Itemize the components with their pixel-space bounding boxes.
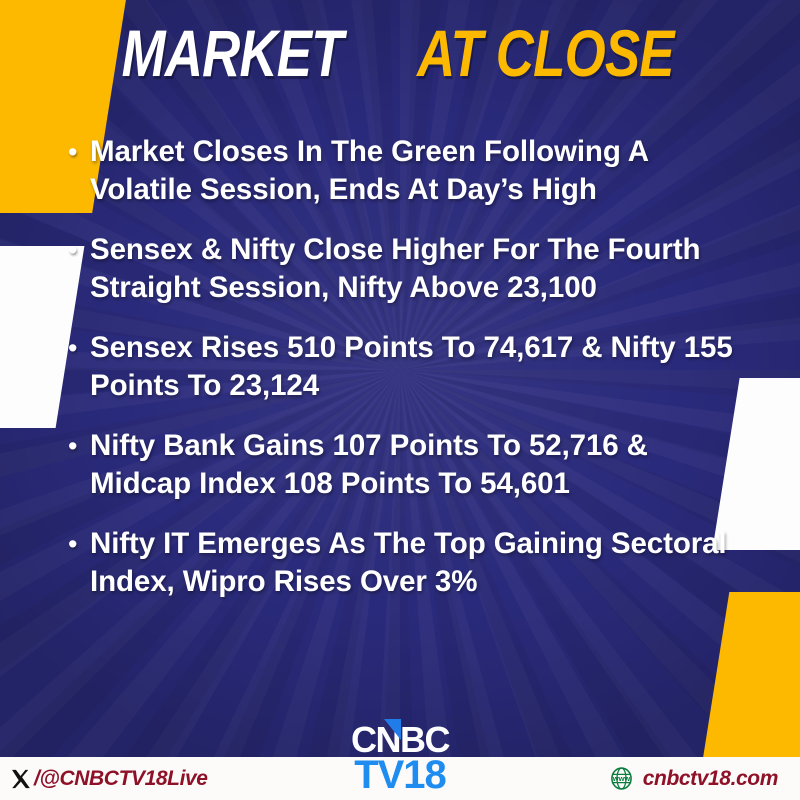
bullet-dot-icon: • bbox=[68, 133, 90, 171]
page-title: MARKETAT CLOSE bbox=[0, 20, 800, 86]
list-item: • Sensex Rises 510 Points To 74,617 & Ni… bbox=[68, 329, 738, 405]
list-item-text: Nifty Bank Gains 107 Points To 52,716 & … bbox=[90, 427, 738, 503]
cnbc-tv18-logo: CNBC TV18 bbox=[0, 722, 800, 795]
list-item: • Nifty IT Emerges As The Top Gaining Se… bbox=[68, 525, 738, 601]
page-title-part-at-close: AT CLOSE bbox=[417, 20, 674, 86]
bullet-dot-icon: • bbox=[68, 231, 90, 269]
bullet-dot-icon: • bbox=[68, 427, 90, 465]
bullet-dot-icon: • bbox=[68, 525, 90, 563]
list-item-text: Market Closes In The Green Following A V… bbox=[90, 133, 738, 209]
bullet-dot-icon: • bbox=[68, 329, 90, 367]
market-at-close-card: MARKETAT CLOSE • Market Closes In The Gr… bbox=[0, 0, 800, 800]
headline-bullet-list: • Market Closes In The Green Following A… bbox=[68, 133, 738, 623]
list-item: • Market Closes In The Green Following A… bbox=[68, 133, 738, 209]
list-item: • Sensex & Nifty Close Higher For The Fo… bbox=[68, 231, 738, 307]
list-item-text: Sensex Rises 510 Points To 74,617 & Nift… bbox=[90, 329, 738, 405]
list-item-text: Nifty IT Emerges As The Top Gaining Sect… bbox=[90, 525, 738, 601]
tv18-wordmark: TV18 bbox=[0, 755, 800, 795]
list-item-text: Sensex & Nifty Close Higher For The Four… bbox=[90, 231, 738, 307]
list-item: • Nifty Bank Gains 107 Points To 52,716 … bbox=[68, 427, 738, 503]
peacock-triangle-icon bbox=[384, 719, 401, 740]
cnbc-wordmark: CNBC bbox=[351, 722, 449, 758]
page-title-part-market: MARKET bbox=[122, 20, 343, 86]
